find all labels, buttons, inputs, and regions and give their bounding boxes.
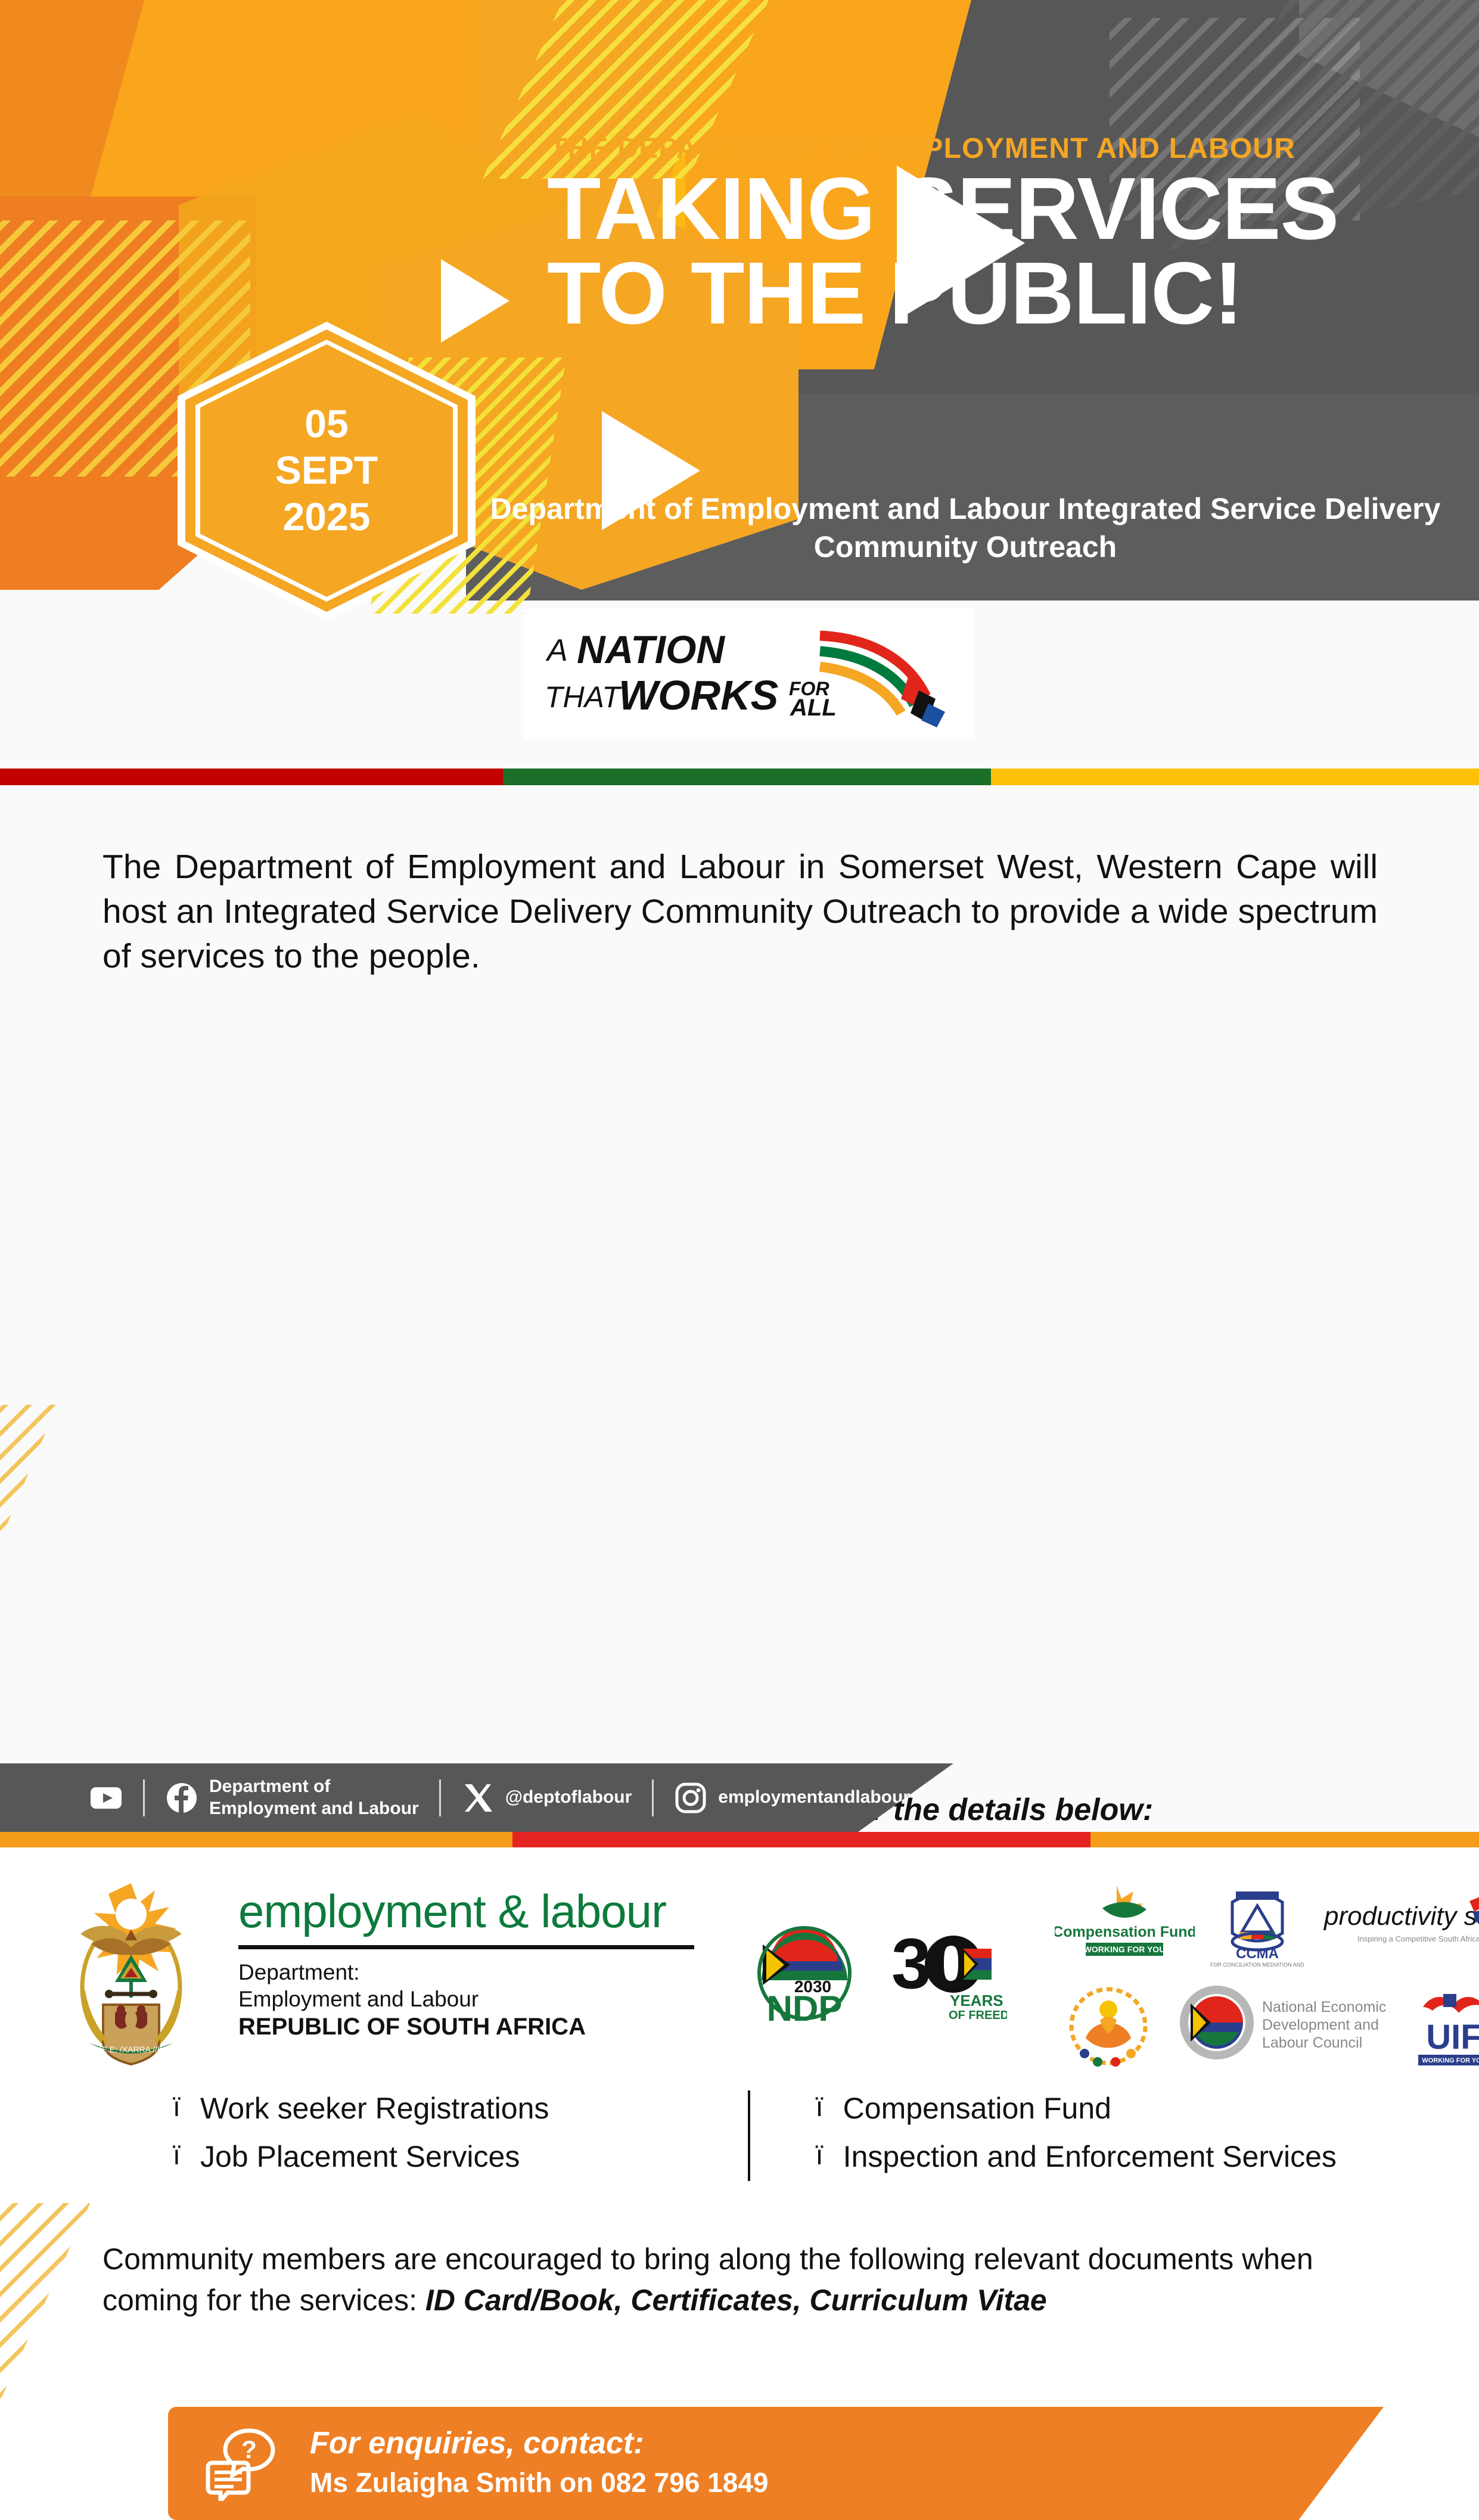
south-african-coat-of-arms: !KE E: /XARRA //KE — [63, 1871, 200, 2068]
x-twitter-icon[interactable] — [461, 1781, 495, 1815]
x-handle: @deptoflabour — [505, 1787, 632, 1809]
uif-label: UIF — [1426, 2018, 1479, 2057]
uif-logo: UIF WORKING FOR YOU — [1406, 1984, 1479, 2071]
svg-text:YEARS: YEARS — [950, 1992, 1003, 2009]
productivity-tagline: Inspiring a Competitive South Africa — [1357, 1934, 1479, 1943]
instagram-handle: employmentandlabour — [718, 1787, 910, 1809]
brand-line-name: Employment and Labour — [238, 1986, 703, 2012]
compensation-fund-logo: Compensation Fund WORKING FOR YOU — [1055, 1882, 1195, 1968]
social-separator — [143, 1779, 145, 1816]
brand-title: employment & labour — [238, 1888, 703, 1934]
list-item: ï Work seeker Registrations — [173, 2085, 748, 2133]
svg-text:THAT: THAT — [545, 680, 622, 714]
ndp-label: NDP — [767, 1989, 843, 2026]
nation-works-logo: A NATION THAT WORKS FOR ALL — [523, 609, 974, 739]
brand-line-country: REPUBLIC OF SOUTH AFRICA — [238, 2012, 703, 2042]
30-years-of-freedom-logo: 30 YEARS OF FREEDOM — [888, 1918, 1007, 2025]
divider-segment-green — [503, 769, 991, 785]
list-item: ï Job Placement Services — [173, 2133, 748, 2181]
productivity-sa-logo: productivity sa Inspiring a Competitive … — [1323, 1894, 1479, 1959]
youtube-icon[interactable] — [89, 1781, 123, 1815]
bullet-icon: ï — [816, 2085, 843, 2133]
list-item-label: Work seeker Registrations — [200, 2085, 549, 2133]
enquiries-text: For enquiries, contact: Ms Zulaigha Smit… — [310, 2426, 769, 2499]
decor-edge-stripes-upper — [0, 1405, 89, 1583]
poster-body: The Department of Employment and Labour … — [0, 785, 1479, 1774]
department-brand: employment & labour Department: Employme… — [238, 1888, 703, 2042]
date-badge-text: 05 SEPT 2025 — [178, 322, 476, 620]
svg-text:National Economic: National Economic — [1262, 1999, 1386, 2015]
page-title-line2: TO THE PUBLIC! — [547, 251, 1381, 336]
bullet-icon: ï — [173, 2085, 200, 2133]
facebook-handle-line1: Department of — [209, 1776, 419, 1798]
bullet-icon: ï — [173, 2133, 200, 2181]
nation-works-logo-svg: A NATION THAT WORKS FOR ALL — [540, 620, 957, 727]
divider-segment-yellow — [991, 769, 1479, 785]
list-item: ï Compensation Fund — [816, 2085, 1382, 2133]
poster-footer: !KE E: /XARRA //KE employment & labour D… — [0, 1847, 1479, 2090]
svg-text:WORKS: WORKS — [619, 672, 778, 718]
facebook-handle-line2: Employment and Labour — [209, 1798, 419, 1820]
svg-text:ALL: ALL — [790, 695, 837, 721]
social-media-items: Department of Employment and Labour @dep… — [0, 1776, 910, 1819]
list-item-label: Compensation Fund — [843, 2085, 1111, 2133]
ccma-logo: CCMA COMMISSION FOR CONCILIATION MEDIATI… — [1210, 1882, 1305, 1971]
nedlac-logo: National Economic Development and Labour… — [1174, 1978, 1406, 2068]
brand-rule — [238, 1945, 694, 1949]
documents-paragraph: Community members are encouraged to brin… — [102, 2239, 1378, 2321]
uif-tagline: WORKING FOR YOU — [1422, 2057, 1479, 2064]
supported-employment-enterprises-logo — [1061, 1978, 1156, 2074]
enquiries-title: For enquiries, contact: — [310, 2426, 769, 2460]
divider-segment-red — [0, 769, 503, 785]
bullet-icon: ï — [816, 2133, 843, 2181]
svg-text:COMMISSION FOR CONCILIATION ME: COMMISSION FOR CONCILIATION MEDIATION AN… — [1210, 1962, 1305, 1968]
coat-of-arms-motto: !KE E: /XARRA //KE — [94, 2045, 168, 2054]
ccma-label: CCMA — [1236, 1946, 1279, 1962]
list-item-label: Job Placement Services — [200, 2133, 520, 2181]
partner-logos: 2030 NDP 30 YEARS OF FREEDOM Compensatio… — [739, 1871, 1454, 2074]
svg-text:NATION: NATION — [577, 627, 725, 671]
enquiries-banner: ? For enquiries, contact: Ms Zulaigha Sm… — [168, 2407, 1384, 2520]
poster-header: THE DEPARTMENT OF EMPLOYMENT AND LABOUR … — [0, 0, 1479, 769]
date-badge-year: 2025 — [283, 494, 371, 540]
social-separator — [652, 1779, 654, 1816]
date-badge: 05 SEPT 2025 — [178, 322, 476, 620]
page-title: TAKING SERVICES TO THE PUBLIC! — [547, 167, 1381, 336]
underline-segment-orange-left — [0, 1832, 512, 1847]
social-underline — [0, 1832, 1479, 1847]
social-separator — [439, 1779, 441, 1816]
list-item-label: Inspection and Enforcement Services — [843, 2133, 1337, 2181]
svg-text:OF FREEDOM: OF FREEDOM — [949, 2009, 1007, 2022]
documents-required: ID Card/Book, Certificates, Curriculum V… — [425, 2283, 1047, 2317]
svg-text:Labour Council: Labour Council — [1262, 2034, 1362, 2051]
chat-question-icon: ? — [205, 2428, 281, 2501]
brand-line-department: Department: — [238, 1959, 703, 1986]
facebook-icon[interactable] — [165, 1781, 198, 1815]
intro-paragraph: The Department of Employment and Labour … — [102, 845, 1378, 979]
tricolor-divider — [0, 769, 1479, 785]
svg-text:A: A — [545, 633, 568, 668]
compensation-fund-label: Compensation Fund — [1055, 1924, 1195, 1940]
date-badge-month: SEPT — [275, 447, 378, 494]
ndp-logo: 2030 NDP — [751, 1916, 858, 2026]
enquiries-contact-name: Ms Zulaigha Smith on 082 796 1849 — [310, 2466, 769, 2499]
compensation-fund-tagline: WORKING FOR YOU — [1084, 1945, 1166, 1954]
header-subtitle: Department of Employment and Labour Inte… — [477, 490, 1454, 566]
productivity-label: productivity sa — [1323, 1902, 1479, 1931]
facebook-handle: Department of Employment and Labour — [209, 1776, 419, 1819]
underline-segment-red — [512, 1832, 1090, 1847]
social-media-bar: Department of Employment and Labour @dep… — [0, 1763, 953, 1832]
underline-segment-orange-right — [1090, 1832, 1479, 1847]
date-badge-day: 05 — [304, 401, 348, 447]
svg-text:Development and: Development and — [1262, 2017, 1379, 2033]
instagram-icon[interactable] — [674, 1781, 707, 1815]
page-title-line1: TAKING SERVICES — [547, 167, 1381, 251]
svg-text:?: ? — [241, 2435, 257, 2463]
list-item: ï Inspection and Enforcement Services — [816, 2133, 1382, 2181]
